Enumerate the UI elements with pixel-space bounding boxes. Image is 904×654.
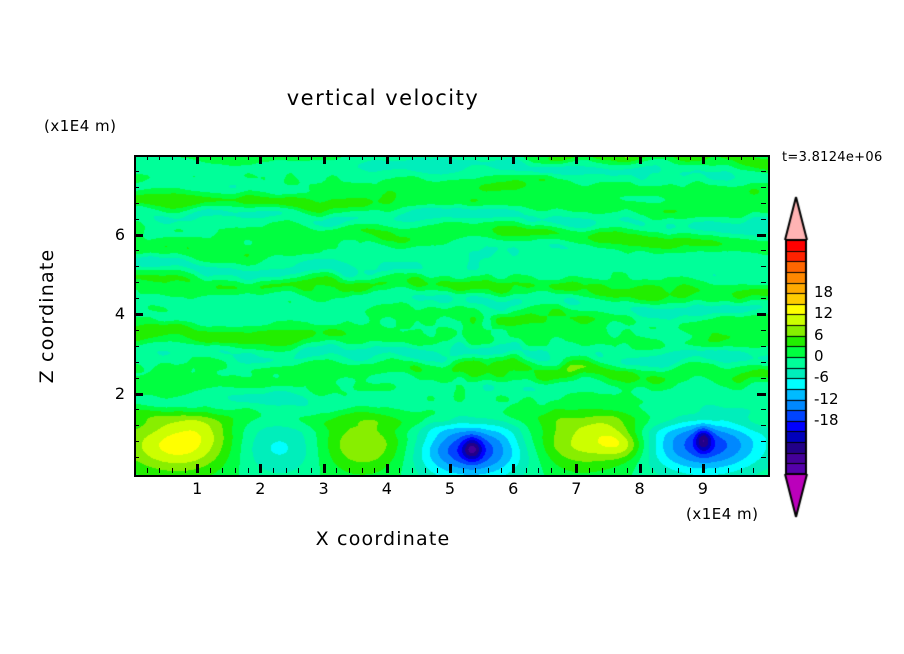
x-tick-label: 6 <box>501 479 525 498</box>
y-tick-label: 2 <box>101 384 125 403</box>
colorbar-tick-label: 12 <box>814 304 833 322</box>
timestamp-label: t=3.8124e+06 <box>782 150 883 165</box>
colorbar-tick-label: 0 <box>814 347 824 365</box>
colorbar-tick-label: 6 <box>814 326 824 344</box>
colorbar-canvas <box>783 196 809 518</box>
x-tick-label: 5 <box>438 479 462 498</box>
x-tick-label: 7 <box>564 479 588 498</box>
colorbar-tick-label: -18 <box>814 411 839 429</box>
contour-field-canvas <box>136 157 768 475</box>
y-tick-label: 4 <box>101 304 125 323</box>
contour-plot-area <box>134 155 770 477</box>
x-tick-label: 2 <box>248 479 272 498</box>
x-axis-title: X coordinate <box>0 528 766 550</box>
vertical-units-label: (x1E4 m) <box>44 117 117 135</box>
x-tick-label: 1 <box>185 479 209 498</box>
x-tick-label: 9 <box>691 479 715 498</box>
x-tick-label: 4 <box>375 479 399 498</box>
chart-title: vertical velocity <box>0 86 766 110</box>
colorbar-tick-label: -12 <box>814 390 839 408</box>
colorbar-tick-label: -6 <box>814 368 829 386</box>
y-tick-label: 6 <box>101 225 125 244</box>
colorbar-tick-label: 18 <box>814 283 833 301</box>
horizontal-units-label: (x1E4 m) <box>686 505 759 523</box>
figure-root: vertical velocity (x1E4 m) (x1E4 m) t=3.… <box>0 0 904 654</box>
colorbar <box>783 196 809 518</box>
x-tick-label: 3 <box>312 479 336 498</box>
x-tick-label: 8 <box>628 479 652 498</box>
y-axis-title: Z coordinate <box>36 216 58 416</box>
